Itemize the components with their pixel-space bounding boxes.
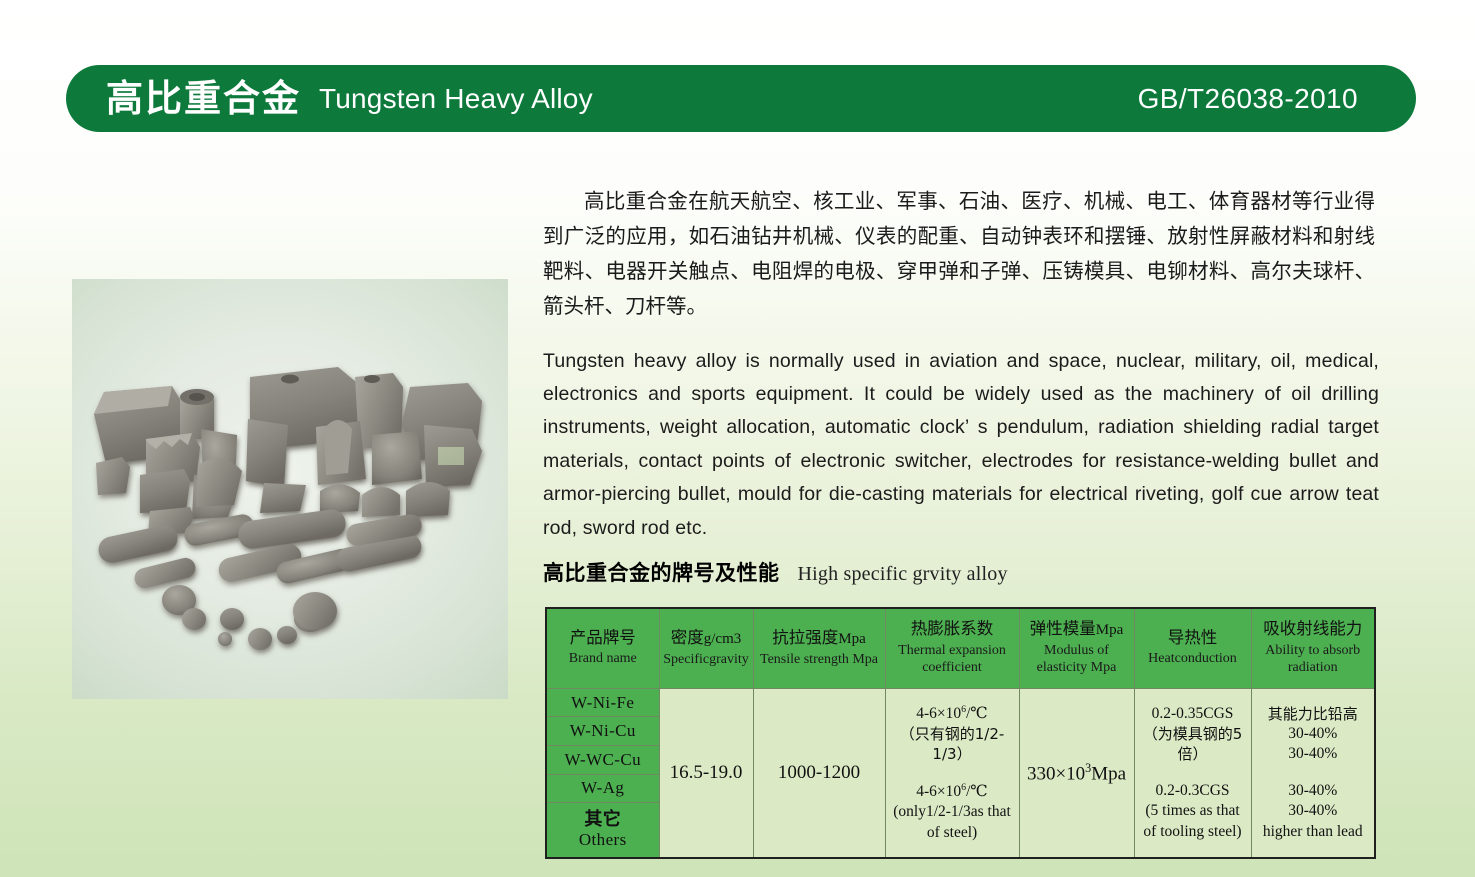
col-header-density-en: Specificgravity xyxy=(662,651,751,669)
col-header-heat-en: Heatconduction xyxy=(1137,650,1249,668)
col-header-thermal-cn: 热膨胀系数 xyxy=(888,619,1017,640)
brand-cell-w-ag: W-Ag xyxy=(546,774,659,803)
value-density: 16.5-19.0 xyxy=(659,688,753,858)
col-header-modulus-en: Modulus of elasticity Mpa xyxy=(1022,642,1132,677)
page-header-banner: 高比重合金 Tungsten Heavy Alloy GB/T26038-201… xyxy=(66,65,1416,132)
intro-paragraph-cn: 高比重合金在航天航空、核工业、军事、石油、医疗、机械、电工、体育器材等行业得到广… xyxy=(543,184,1375,324)
table-header-row: 产品牌号 Brand name 密度g/cm3 Specificgravity … xyxy=(546,608,1375,688)
thermal-cn-line: 4-6×106/℃ xyxy=(887,703,1018,725)
col-header-brand-en: Brand name xyxy=(549,650,657,668)
value-heat: 0.2-0.35CGS （为模具钢的5倍） 0.2-0.3CGS (5 time… xyxy=(1134,688,1251,858)
value-modulus: 330×103Mpa xyxy=(1019,688,1134,858)
spec-table-wrapper: 产品牌号 Brand name 密度g/cm3 Specificgravity … xyxy=(545,607,1374,859)
spec-table: 产品牌号 Brand name 密度g/cm3 Specificgravity … xyxy=(545,607,1376,859)
absorb-en-1: 30-40% xyxy=(1253,781,1374,801)
thermal-spacer xyxy=(887,765,1018,781)
thermal-en-line: 4-6×106/℃ xyxy=(887,781,1018,803)
absorb-cn-title: 其能力比铅高 xyxy=(1253,704,1374,724)
thermal-cn-note: （只有钢的1/2-1/3） xyxy=(887,724,1018,765)
product-photo-illustration xyxy=(72,279,508,699)
heat-spacer xyxy=(1136,765,1250,781)
col-header-absorb: 吸收射线能力 Ability to absorb radiation xyxy=(1251,608,1375,688)
col-header-thermal-en: Thermal expansion coefficient xyxy=(888,642,1017,677)
product-photo xyxy=(72,279,508,699)
section-heading-cn: 高比重合金的牌号及性能 xyxy=(543,557,780,587)
col-header-tensile: 抗拉强度Mpa Tensile strength Mpa xyxy=(753,608,885,688)
absorb-cn-1: 30-40% xyxy=(1253,724,1374,744)
absorb-spacer xyxy=(1253,765,1374,781)
value-thermal: 4-6×106/℃ （只有钢的1/2-1/3） 4-6×106/℃ (only1… xyxy=(885,688,1019,858)
brand-others-cn: 其它 xyxy=(548,810,658,831)
col-header-absorb-en: Ability to absorb radiation xyxy=(1254,642,1373,677)
heat-en-note1: (5 times as that xyxy=(1136,801,1250,821)
value-tensile: 1000-1200 xyxy=(753,688,885,858)
catalog-page: 高比重合金 Tungsten Heavy Alloy GB/T26038-201… xyxy=(0,0,1475,877)
col-header-heat-cn: 导热性 xyxy=(1137,628,1249,649)
value-absorb: 其能力比铅高 30-40% 30-40% 30-40% 30-40% highe… xyxy=(1251,688,1375,858)
brand-cell-w-ni-cu: W-Ni-Cu xyxy=(546,717,659,746)
brand-cell-w-wc-cu: W-WC-Cu xyxy=(546,745,659,774)
heat-en-note2: of tooling steel) xyxy=(1136,822,1250,842)
col-header-brand: 产品牌号 Brand name xyxy=(546,608,659,688)
heat-cn-note: （为模具钢的5倍） xyxy=(1136,724,1250,765)
page-title-cn: 高比重合金 xyxy=(106,80,301,117)
col-header-brand-cn: 产品牌号 xyxy=(549,628,657,649)
brand-others-en: Others xyxy=(548,830,658,850)
standard-code: GB/T26038-2010 xyxy=(1138,83,1358,115)
col-header-absorb-cn: 吸收射线能力 xyxy=(1254,619,1373,640)
absorb-en-3: higher than lead xyxy=(1253,822,1374,842)
page-title-en: Tungsten Heavy Alloy xyxy=(319,83,593,115)
thermal-en-note1: (only1/2-1/3as that xyxy=(887,802,1018,822)
brand-cell-w-ni-fe: W-Ni-Fe xyxy=(546,688,659,717)
heat-en-value: 0.2-0.3CGS xyxy=(1136,781,1250,801)
thermal-en-note2: of steel) xyxy=(887,823,1018,843)
col-header-thermal: 热膨胀系数 Thermal expansion coefficient xyxy=(885,608,1019,688)
table-row: W-Ni-Fe 16.5-19.0 1000-1200 4-6×106/℃ （只… xyxy=(546,688,1375,717)
col-header-tensile-cn: 抗拉强度Mpa xyxy=(756,628,883,649)
col-header-density-cn: 密度g/cm3 xyxy=(662,628,751,649)
intro-paragraph-en: Tungsten heavy alloy is normally used in… xyxy=(543,345,1379,545)
brand-cell-others: 其它 Others xyxy=(546,803,659,858)
col-header-density: 密度g/cm3 Specificgravity xyxy=(659,608,753,688)
section-heading-en: High specific grvity alloy xyxy=(798,563,1008,586)
col-header-modulus: 弹性模量Mpa Modulus of elasticity Mpa xyxy=(1019,608,1134,688)
section-heading: 高比重合金的牌号及性能 High specific grvity alloy xyxy=(543,557,1008,587)
absorb-en-2: 30-40% xyxy=(1253,801,1374,821)
absorb-cn-2: 30-40% xyxy=(1253,744,1374,764)
col-header-heat: 导热性 Heatconduction xyxy=(1134,608,1251,688)
col-header-tensile-en: Tensile strength Mpa xyxy=(756,651,883,669)
col-header-modulus-cn: 弹性模量Mpa xyxy=(1022,619,1132,640)
heat-cn-value: 0.2-0.35CGS xyxy=(1136,704,1250,724)
